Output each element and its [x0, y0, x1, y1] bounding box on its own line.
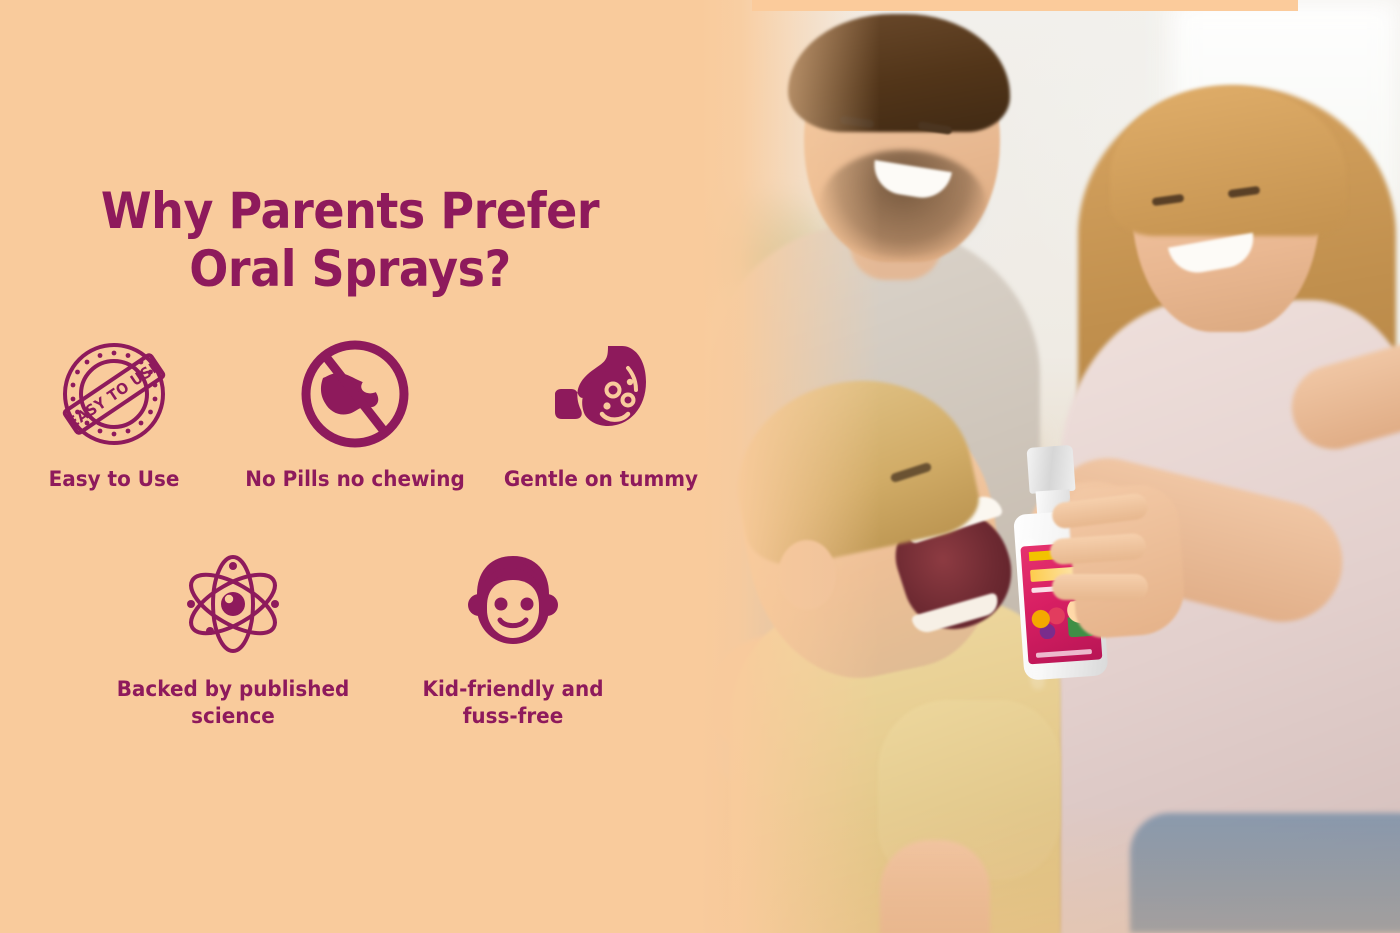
promo-banner: Why Parents Prefer Oral Sprays?: [0, 0, 1400, 933]
label-bottom-line: [1036, 649, 1092, 658]
label-fruit-art: [1031, 604, 1069, 640]
feature-label: Kid-friendly and fuss-free: [385, 676, 642, 730]
mother-finger-3: [1052, 574, 1148, 600]
feature-kid-friendly: Kid-friendly and fuss-free: [378, 548, 648, 730]
feature-no-chewing: No Pills no chewing: [228, 338, 482, 493]
feature-gentle-on-tummy: Gentle on tummy: [482, 338, 720, 493]
feature-label: Gentle on tummy: [488, 466, 714, 493]
no-chewing-icon: [228, 338, 482, 450]
feature-row-2: Backed by published science: [88, 548, 648, 730]
page-title: Why Parents Prefer Oral Sprays?: [28, 182, 672, 298]
feature-label-line-1: Kid-friendly and: [423, 677, 604, 701]
child-arm: [880, 840, 990, 933]
headline-line-2: Oral Sprays?: [28, 240, 672, 298]
top-accent-bar: [752, 0, 1298, 11]
feature-easy-to-use: EASY TO USE Easy to Use: [0, 338, 228, 493]
bottle-pump-cap: [1027, 445, 1076, 494]
content-panel: Why Parents Prefer Oral Sprays?: [0, 0, 720, 933]
feature-label: No Pills no chewing: [234, 466, 475, 493]
easy-to-use-stamp-icon: EASY TO USE: [0, 338, 228, 450]
feature-row-1: EASY TO USE Easy to Use: [0, 338, 720, 493]
feature-label: Easy to Use: [6, 466, 223, 493]
family-photo: [700, 0, 1400, 933]
stomach-smiley-icon: [482, 338, 720, 450]
atom-icon: [88, 548, 378, 660]
child-ear: [778, 540, 836, 610]
kid-face-icon: [378, 548, 648, 660]
mother-jeans: [1130, 813, 1400, 933]
headline-line-1: Why Parents Prefer: [101, 182, 599, 240]
feature-backed-by-science: Backed by published science: [88, 548, 378, 730]
feature-label-line-2: fuss-free: [463, 704, 563, 728]
feature-label-line-2: science: [191, 704, 275, 728]
feature-label-line-1: Backed by published: [117, 677, 350, 701]
feature-label: Backed by published science: [95, 676, 371, 730]
